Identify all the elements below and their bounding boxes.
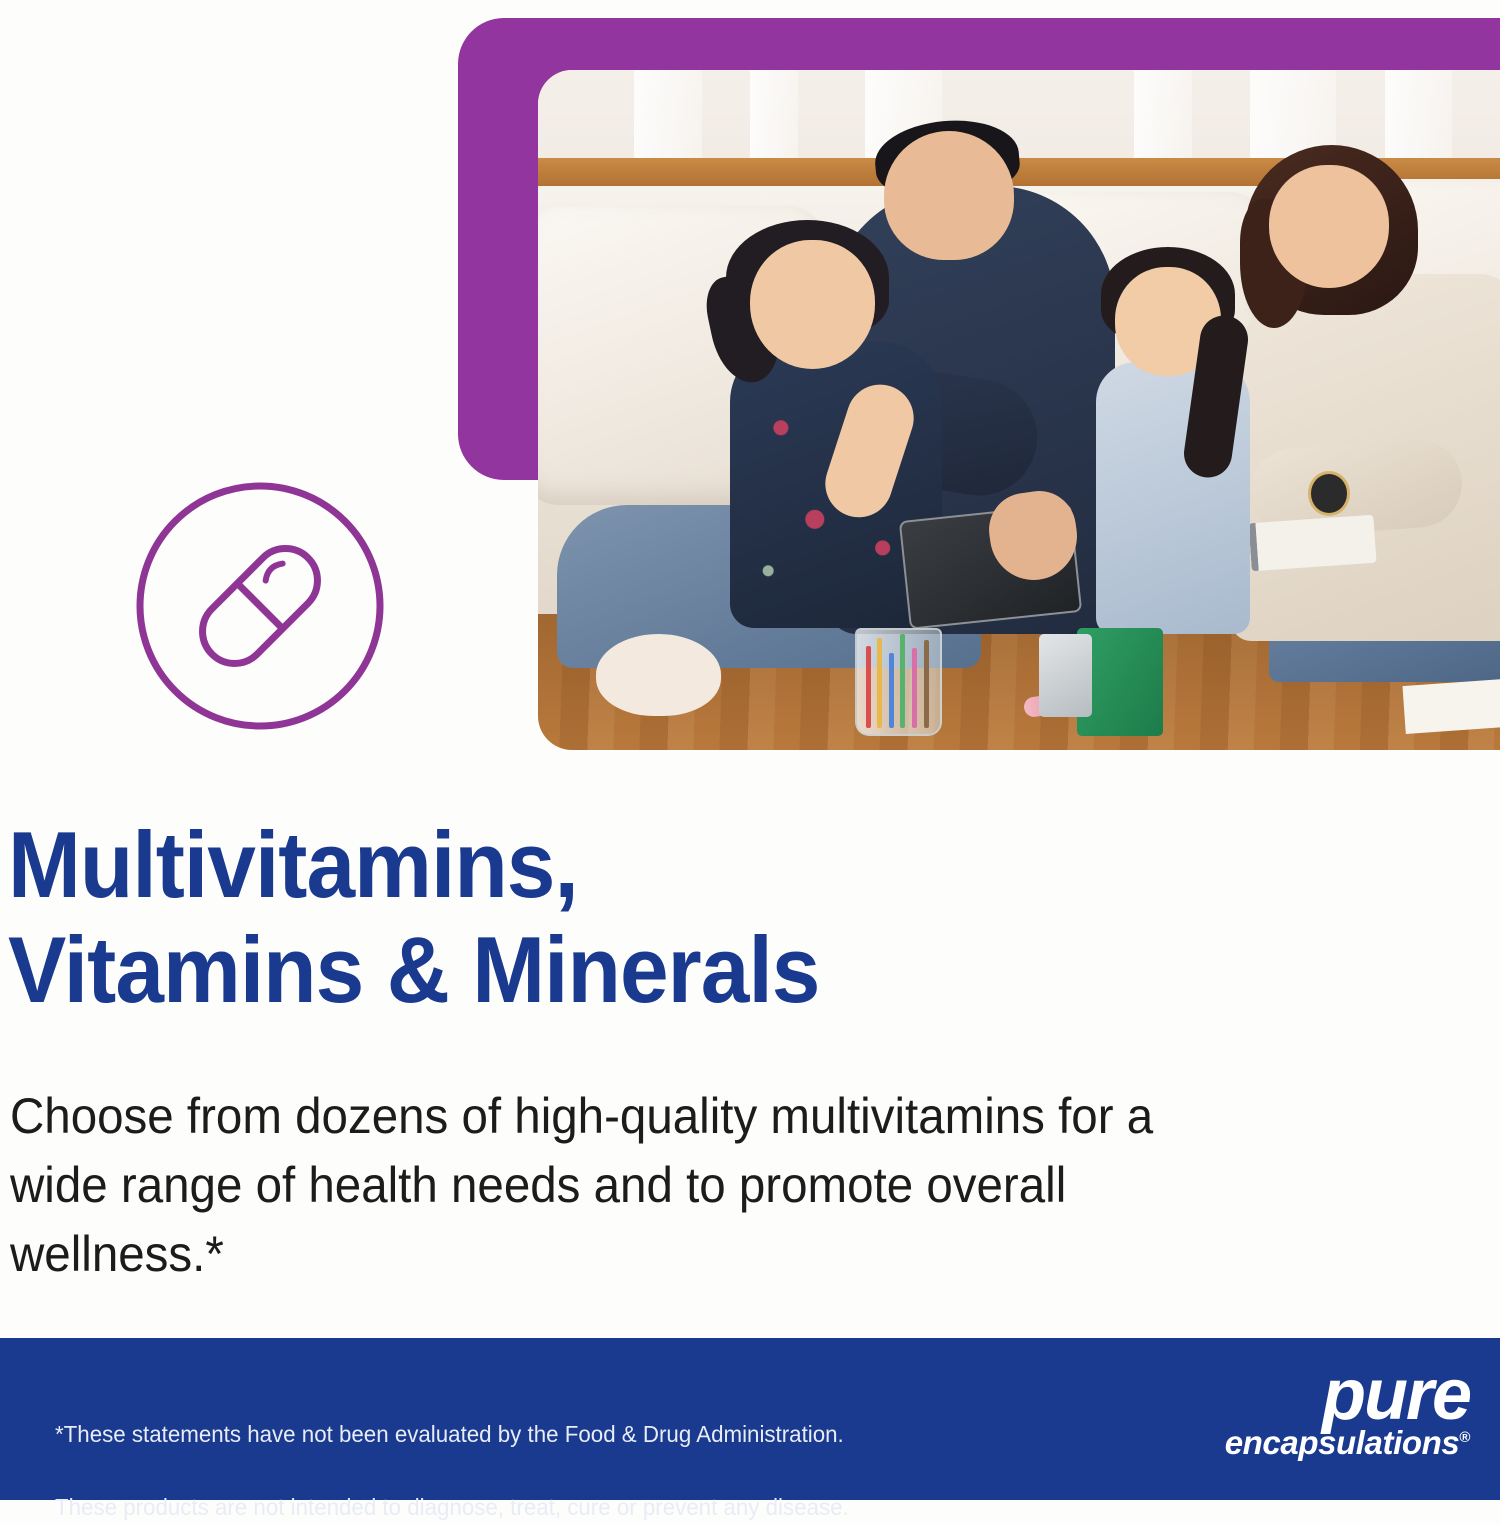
registered-trademark-icon: ® xyxy=(1459,1429,1470,1446)
disclaimer-line-1: *These statements have not been evaluate… xyxy=(55,1421,844,1447)
subcopy-text: Choose from dozens of high-quality multi… xyxy=(10,1082,1264,1289)
spiral-notebook xyxy=(1248,514,1376,570)
logo-wordmark-pure: pure xyxy=(1170,1362,1470,1428)
headline-line-1: Multivitamins, xyxy=(8,812,578,917)
bare-feet xyxy=(596,634,721,716)
capsule-icon xyxy=(132,478,388,734)
lifestyle-photo xyxy=(538,70,1500,750)
photo-scene xyxy=(538,70,1500,750)
headline-line-2: Vitamins & Minerals xyxy=(8,917,819,1022)
pencil-jar xyxy=(855,628,942,737)
paper-sheet xyxy=(1402,678,1500,734)
toddler-head xyxy=(750,240,875,369)
hero-section xyxy=(0,0,1500,790)
pencil-sharpener xyxy=(1077,628,1164,737)
disclaimer-line-2: These products are not intended to diagn… xyxy=(55,1494,849,1520)
mother-head xyxy=(1269,165,1389,287)
logo-sub-text: encapsulations xyxy=(1225,1424,1460,1461)
footer-bar: *These statements have not been evaluate… xyxy=(0,1338,1500,1500)
page-title: Multivitamins, Vitamins & Minerals xyxy=(8,812,1105,1023)
brand-logo: pure encapsulations® xyxy=(1170,1362,1470,1474)
fda-disclaimer: *These statements have not been evaluate… xyxy=(55,1380,849,1525)
father-head xyxy=(884,131,1014,260)
logo-wordmark-encapsulations: encapsulations® xyxy=(1170,1426,1470,1459)
wristwatch xyxy=(1308,471,1350,516)
